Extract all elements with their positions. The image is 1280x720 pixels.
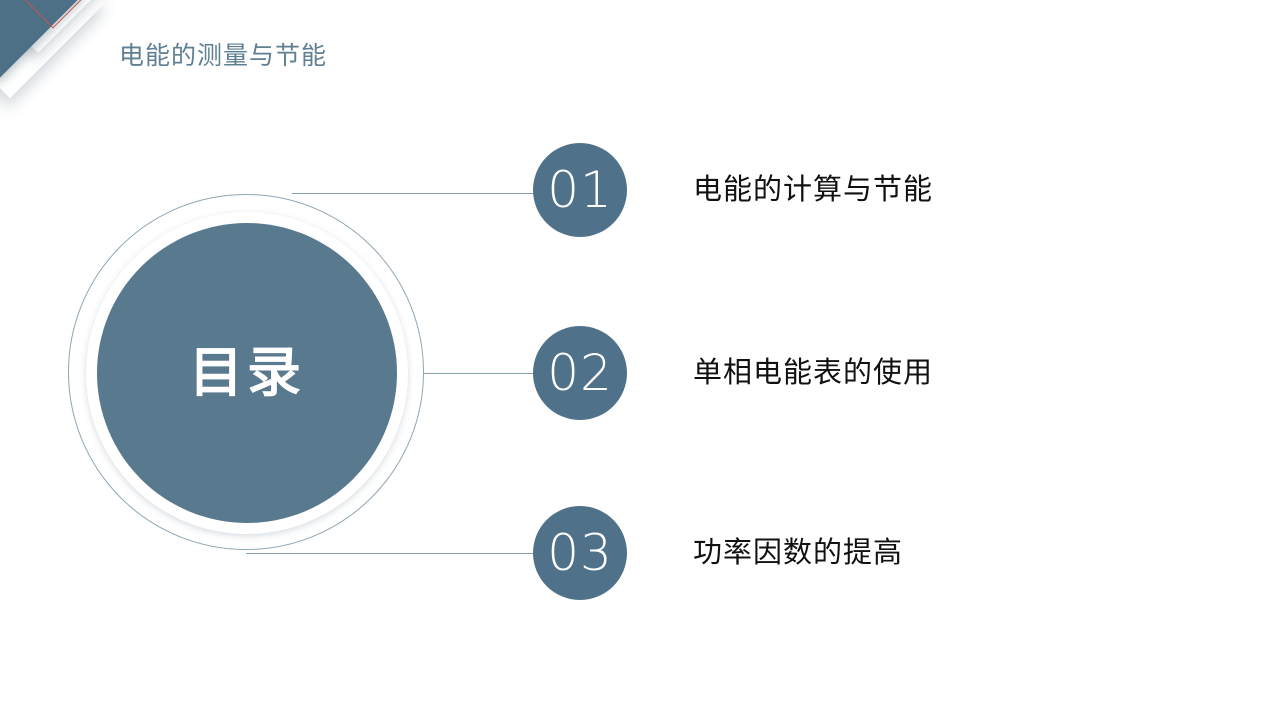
decor-white-square-front <box>0 0 123 53</box>
agenda-item-01-circle[interactable]: 01 <box>533 143 627 237</box>
agenda-item-03-circle[interactable]: 03 <box>533 506 627 600</box>
agenda-item-03-label[interactable]: 功率因数的提高 <box>693 539 903 568</box>
agenda-item-02-circle[interactable]: 02 <box>533 326 627 420</box>
hub-circle: 目录 <box>97 223 397 523</box>
slide-canvas: 电能的测量与节能 目录 01 电能的计算与节能 02 单相电能表的使用 03 功… <box>0 0 1280 720</box>
agenda-item-03-number: 03 <box>547 528 613 578</box>
decor-blue-square <box>0 0 88 78</box>
page-title: 电能的测量与节能 <box>119 36 327 72</box>
decor-red-diamond-outline <box>4 0 103 28</box>
agenda-item-02-label[interactable]: 单相电能表的使用 <box>693 359 933 388</box>
connector-line-01 <box>292 193 542 194</box>
decor-white-square-back <box>0 0 106 98</box>
connector-line-03 <box>246 553 542 554</box>
agenda-item-01-number: 01 <box>547 165 613 215</box>
agenda-item-01-label[interactable]: 电能的计算与节能 <box>693 176 933 205</box>
hub-label: 目录 <box>189 346 305 400</box>
agenda-item-02-number: 02 <box>547 348 613 398</box>
connector-line-02 <box>424 373 542 374</box>
